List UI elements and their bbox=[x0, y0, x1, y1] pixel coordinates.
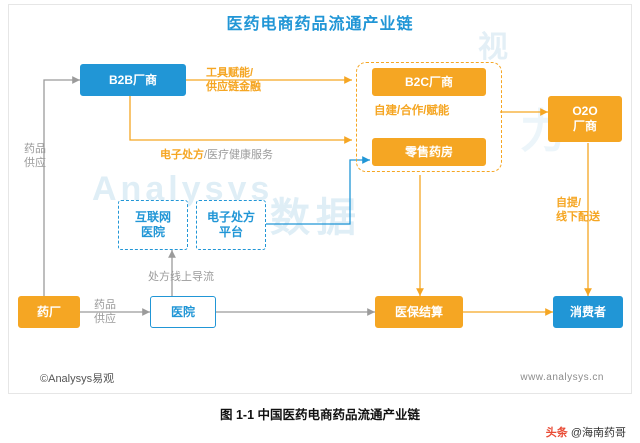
label-tools-supplychain: 工具赋能/ 供应链金融 bbox=[206, 66, 261, 95]
node-consumer[interactable]: 消费者 bbox=[553, 296, 623, 328]
node-insurance-settlement[interactable]: 医保结算 bbox=[375, 296, 463, 328]
node-drug-factory[interactable]: 药厂 bbox=[18, 296, 80, 328]
footer-url: www.analysys.cn bbox=[520, 372, 604, 383]
diagram-frame bbox=[8, 4, 632, 394]
label-drug-supply-mid: 药品 供应 bbox=[94, 298, 116, 327]
node-b2b[interactable]: B2B厂商 bbox=[80, 64, 186, 96]
node-hospital[interactable]: 医院 bbox=[150, 296, 216, 328]
byline-toutiao: 头条 bbox=[546, 427, 568, 439]
figure-caption: 图 1-1 中国医药电商药品流通产业链 bbox=[0, 404, 640, 423]
node-b2c[interactable]: B2C厂商 bbox=[372, 68, 486, 96]
byline-author: @海南药哥 bbox=[571, 427, 626, 439]
node-o2o[interactable]: O2O 厂商 bbox=[548, 96, 622, 142]
label-health-service: /医疗健康服务 bbox=[204, 149, 273, 161]
node-retail-pharmacy[interactable]: 零售药房 bbox=[372, 138, 486, 166]
label-online-prescription-flow: 处方线上导流 bbox=[148, 270, 214, 284]
footer-copyright: ©Analysys易观 bbox=[40, 370, 114, 386]
node-eprescription-platform[interactable]: 电子处方 平台 bbox=[196, 200, 266, 250]
page-title: 医药电商药品流通产业链 bbox=[0, 10, 640, 34]
label-pickup-delivery: 自提/ 线下配送 bbox=[556, 196, 600, 225]
node-internet-hospital[interactable]: 互联网 医院 bbox=[118, 200, 188, 250]
diagram-canvas: 医药电商药品流通产业链 Analysys 数据 视 力 bbox=[0, 0, 640, 443]
label-drug-supply-left: 药品 供应 bbox=[24, 142, 46, 171]
byline: 头条 @海南药哥 bbox=[546, 424, 626, 440]
label-group-self-cooperation: 自建/合作/赋能 bbox=[374, 104, 449, 119]
label-eprescription: 电子处方 bbox=[160, 149, 204, 161]
label-eprescription-service: 电子处方/医疗健康服务 bbox=[160, 134, 273, 163]
